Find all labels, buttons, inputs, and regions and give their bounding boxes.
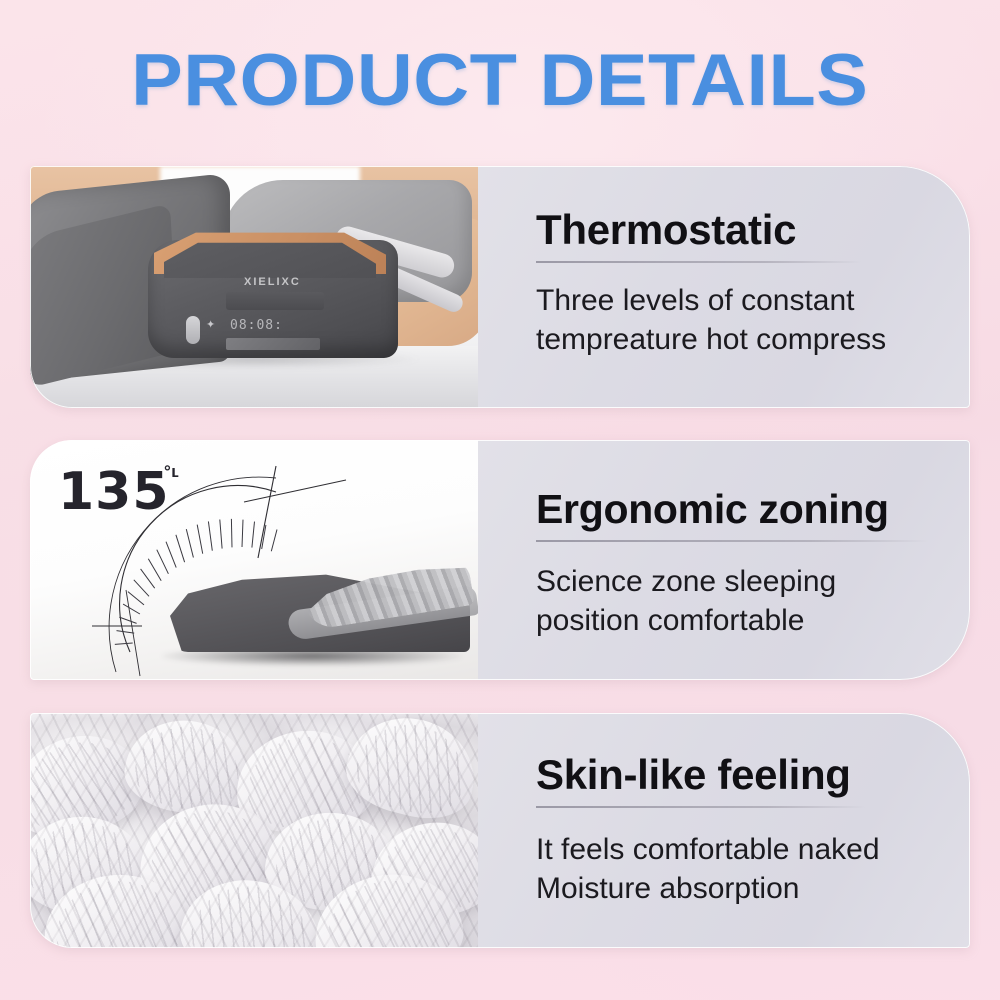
heading-underline — [536, 806, 866, 808]
foam-pillows-photo — [30, 713, 478, 948]
feature-body-line: Three levels of constant — [536, 281, 970, 320]
feature-heading: Skin-like feeling — [536, 753, 970, 797]
foam-rib-texture-secondary — [30, 713, 478, 948]
feature-text-thermostatic: Thermostatic Three levels of constant te… — [478, 166, 970, 408]
page-title: PRODUCT DETAILS — [131, 44, 868, 117]
feature-body: It feels comfortable naked Moisture abso… — [536, 830, 970, 908]
feature-body-line: tempreature hot compress — [536, 320, 970, 359]
feature-body-line: Moisture absorption — [536, 869, 970, 908]
power-button-icon — [186, 316, 200, 344]
heading-underline — [536, 540, 928, 542]
control-screen — [226, 292, 324, 310]
feature-body-line: It feels comfortable naked — [536, 830, 970, 869]
brand-label: XIELIXC — [244, 276, 301, 288]
feature-body: Science zone sleeping position comfortab… — [536, 562, 970, 640]
feature-heading: Thermostatic — [536, 208, 970, 252]
feature-text-skin-like-feeling: Skin-like feeling It feels comfortable n… — [478, 713, 970, 948]
spark-icon: ✦ — [206, 318, 215, 331]
product-details-page: PRODUCT DETAILS XIELIXC 08:08: ✦ — [0, 0, 1000, 1000]
screen-bar — [226, 338, 320, 350]
angle-diagram-photo: 135 °ʟ — [30, 440, 478, 680]
feature-body: Three levels of constant tempreature hot… — [536, 281, 970, 359]
feature-heading: Ergonomic zoning — [536, 488, 970, 531]
feature-body-line: Science zone sleeping — [536, 562, 970, 601]
screen-digits: 08:08: — [230, 318, 283, 333]
page-title-wrap: PRODUCT DETAILS — [0, 44, 1000, 117]
feature-text-ergonomic-zoning: Ergonomic zoning Science zone sleeping p… — [478, 440, 970, 680]
heading-underline — [536, 261, 862, 263]
feature-body-line: position comfortable — [536, 601, 970, 640]
feature-card-skin-like-feeling: Skin-like feeling It feels comfortable n… — [30, 713, 970, 948]
feature-card-thermostatic: XIELIXC 08:08: ✦ Thermostatic Three leve… — [30, 166, 970, 408]
neck-massager-photo: XIELIXC 08:08: ✦ — [30, 166, 478, 408]
feature-card-ergonomic-zoning: 135 °ʟ — [30, 440, 970, 680]
